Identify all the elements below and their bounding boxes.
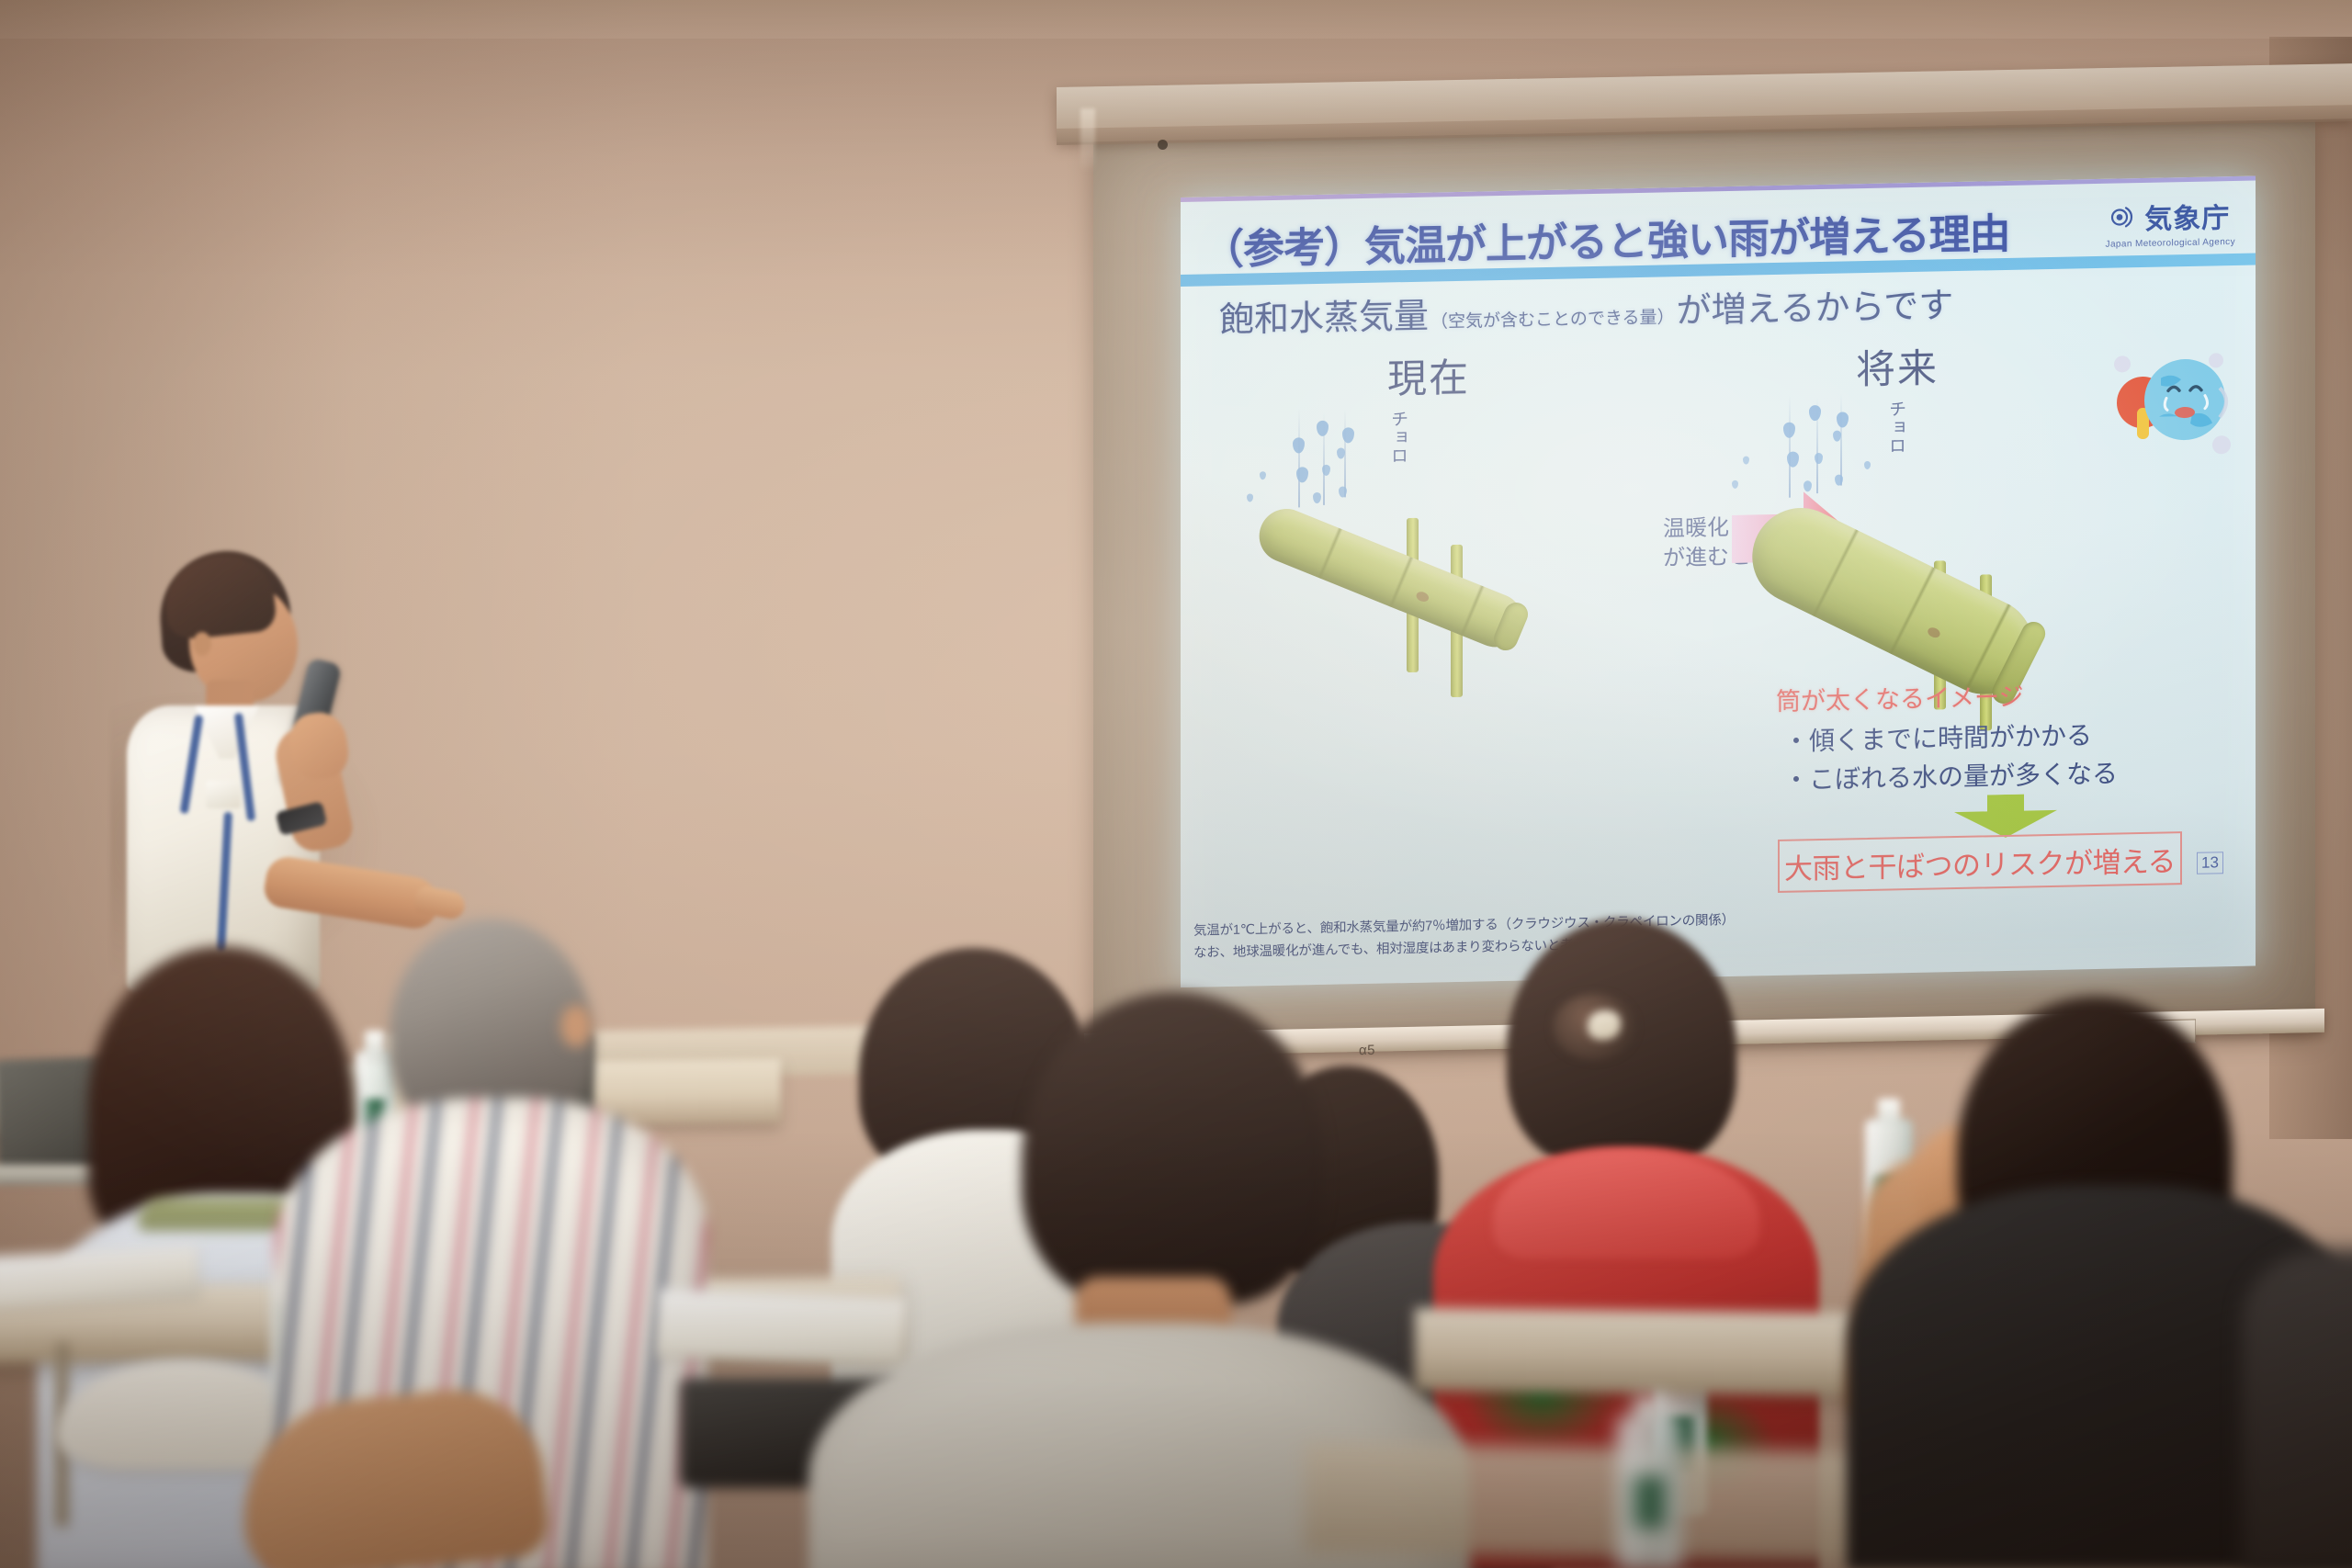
column-label-now: 現在 bbox=[1387, 346, 1470, 405]
earth-character-icon bbox=[2104, 349, 2233, 462]
slide-page-number: 13 bbox=[2197, 852, 2223, 874]
audience-person-striped-ear bbox=[560, 1005, 592, 1047]
screen-edge-mark: α5 bbox=[1359, 1043, 1375, 1058]
conclusion-text: 大雨と干ばつのリスクが増える bbox=[1784, 838, 2176, 887]
presenter bbox=[110, 551, 505, 992]
subtitle-main-1: 飽和水蒸気量 bbox=[1219, 288, 1429, 343]
audience-person-hair-clip bbox=[1588, 1010, 1621, 1040]
bamboo-tube-future bbox=[1750, 455, 2118, 710]
jma-logo: 気象庁 Japan Meteorological Agency bbox=[2106, 195, 2235, 250]
presenter-id-badge bbox=[206, 781, 241, 808]
note-heading: 筒が太くなるイメージ bbox=[1776, 677, 2023, 717]
wall-scuff bbox=[1080, 108, 1095, 173]
column-label-future: 将来 bbox=[1856, 336, 1939, 395]
conclusion-box: 大雨と干ばつのリスクが増える bbox=[1778, 831, 2182, 893]
bamboo-tube-now bbox=[1269, 474, 1581, 692]
lecture-room-photo: （参考）気温が上がると強い雨が増える理由 気象庁 Japan Meteorolo… bbox=[0, 0, 2352, 1568]
projected-slide: （参考）気温が上がると強い雨が増える理由 気象庁 Japan Meteorolo… bbox=[1181, 176, 2256, 987]
jma-logo-jp: 気象庁 bbox=[2144, 195, 2230, 237]
presenter-ear bbox=[193, 632, 211, 656]
subtitle-parenthetical: （空気が含むことのできる量） bbox=[1430, 303, 1674, 333]
audience-person-far-right bbox=[2242, 1249, 2352, 1568]
ceiling-fixture-dot bbox=[1158, 140, 1168, 150]
water-bottle-front-right bbox=[1617, 1396, 1681, 1568]
subtitle-main-2: が増えるからです bbox=[1676, 276, 1953, 333]
handout-papers-center bbox=[657, 1289, 907, 1365]
jma-logo-mark-icon bbox=[2110, 203, 2138, 231]
slide-subtitle: 飽和水蒸気量 （空気が含むことのできる量） が増えるからです bbox=[1219, 276, 1953, 342]
sfx-text-now: チョロ bbox=[1388, 410, 1407, 465]
bamboo-cylinder-now bbox=[1251, 501, 1531, 655]
note-bullet-2: ・こぼれる水の量が多くなる bbox=[1783, 754, 2118, 797]
note-bullet-1: ・傾くまでに時間がかかる bbox=[1783, 716, 2092, 759]
jma-logo-en: Japan Meteorological Agency bbox=[2106, 237, 2235, 250]
down-arrow-icon bbox=[1952, 794, 2059, 840]
sfx-text-future: チョロ bbox=[1886, 400, 1905, 455]
